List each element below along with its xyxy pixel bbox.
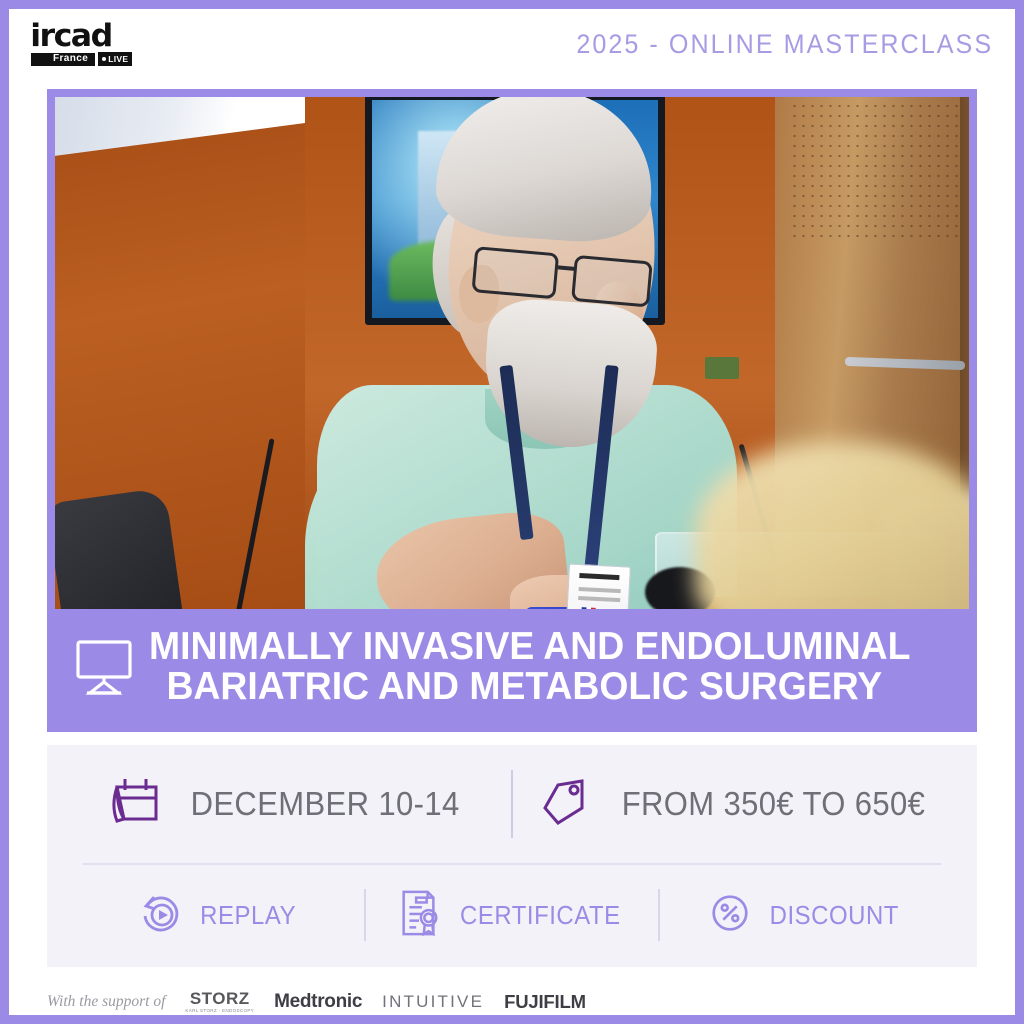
- speaker-photo: [55, 97, 969, 625]
- logo-france-tag: France: [31, 53, 95, 67]
- course-title-line-2: BARIATRIC AND METABOLIC SURGERY: [166, 667, 910, 706]
- header-tagline: 2025 - ONLINE MASTERCLASS: [576, 29, 993, 60]
- discount-percent-icon: [707, 890, 753, 941]
- photo-lens-right: [571, 255, 653, 308]
- karl-storz-subtitle: KARL STORZ · ENDOSCOPY: [185, 1009, 254, 1014]
- feature-replay[interactable]: REPLAY: [73, 889, 364, 942]
- poster-root: ircad France LIVE 2025 - ONLINE MASTERCL…: [0, 0, 1024, 1024]
- date-label: DECEMBER 10-14: [190, 785, 459, 823]
- replay-icon: [137, 889, 185, 942]
- info-row-date-price: DECEMBER 10-14 FROM 350€ TO 650€: [47, 745, 977, 863]
- feature-certificate[interactable]: CERTIFICATE: [366, 888, 657, 943]
- photo-lens-left: [471, 246, 559, 299]
- logo-live-label: LIVE: [108, 55, 128, 64]
- photo-exit-sign: [705, 357, 739, 379]
- feature-discount[interactable]: DISCOUNT: [660, 890, 951, 941]
- karl-storz-wordmark: STORZ: [190, 990, 250, 1007]
- photo-chair: [55, 487, 184, 625]
- date-cell[interactable]: DECEMBER 10-14: [65, 775, 511, 834]
- intuitive-logo[interactable]: INTUITIVE: [382, 992, 484, 1012]
- support-intro-text: With the support of: [47, 993, 165, 1011]
- sponsors-strip: With the support of STORZ KARL STORZ · E…: [47, 984, 977, 1020]
- logo-live-tag: LIVE: [98, 52, 132, 66]
- medtronic-logo[interactable]: Medtronic: [274, 991, 362, 1013]
- calendar-icon: [108, 775, 162, 834]
- photo-foreground-blur: [695, 442, 969, 625]
- course-title: MINIMALLY INVASIVE AND ENDOLUMINAL BARIA…: [149, 627, 910, 706]
- feature-replay-label: REPLAY: [200, 900, 296, 931]
- price-tag-icon: [538, 775, 592, 834]
- fujifilm-logo[interactable]: FUJIFILM: [504, 991, 586, 1013]
- ircad-france-live-logo[interactable]: ircad France LIVE: [31, 22, 132, 67]
- header: ircad France LIVE 2025 - ONLINE MASTERCL…: [9, 9, 1015, 79]
- live-dot-icon: [102, 57, 106, 61]
- certificate-icon: [396, 888, 442, 943]
- price-cell[interactable]: FROM 350€ TO 650€: [513, 775, 959, 834]
- course-title-line-1: MINIMALLY INVASIVE AND ENDOLUMINAL: [149, 627, 910, 666]
- features-row: REPLAY: [47, 865, 977, 965]
- photo-acoustic-panel: [790, 101, 969, 241]
- price-label: FROM 350€ TO 650€: [621, 785, 925, 823]
- feature-discount-label: DISCOUNT: [769, 900, 898, 931]
- karl-storz-logo[interactable]: STORZ KARL STORZ · ENDOSCOPY: [185, 990, 254, 1014]
- feature-certificate-label: CERTIFICATE: [460, 900, 621, 931]
- logo-subrow: France LIVE: [31, 52, 132, 66]
- info-panel: DECEMBER 10-14 FROM 350€ TO 650€: [47, 745, 977, 967]
- logo-wordmark: ircad: [30, 22, 112, 51]
- media-frame: MINIMALLY INVASIVE AND ENDOLUMINAL BARIA…: [47, 89, 977, 732]
- monitor-icon: [73, 637, 135, 697]
- title-band: MINIMALLY INVASIVE AND ENDOLUMINAL BARIA…: [55, 609, 969, 724]
